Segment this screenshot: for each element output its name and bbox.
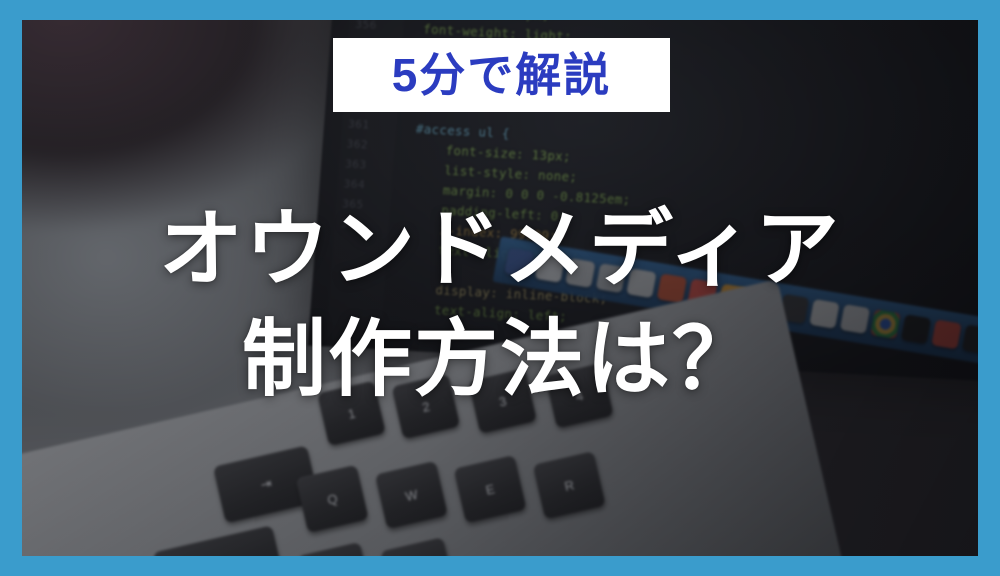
headline-line-1: オウンドメディア — [22, 198, 978, 300]
badge: 5分で解説 — [333, 38, 670, 112]
badge-label: 5分で解説 — [392, 52, 612, 98]
headline: オウンドメディア 制作方法は？ — [22, 198, 978, 411]
background-photo: 353 354 355 356 357 358 359 360 361 362 … — [22, 20, 978, 556]
banner-image: 353 354 355 356 357 358 359 360 361 362 … — [0, 0, 1000, 576]
headline-line-2: 制作方法は？ — [22, 308, 978, 410]
